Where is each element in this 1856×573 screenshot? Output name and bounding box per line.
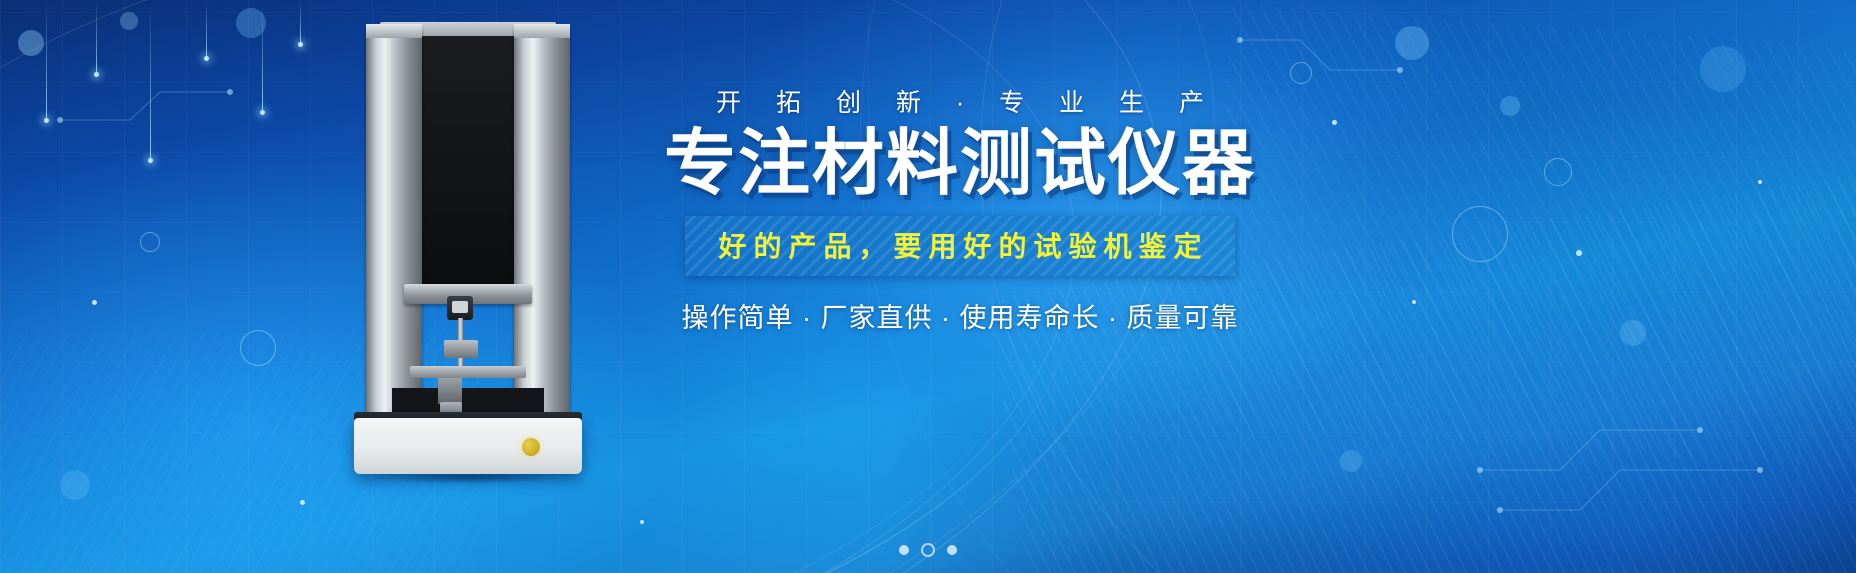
bokeh-circle bbox=[120, 12, 138, 30]
machine-plate-stem bbox=[438, 378, 462, 404]
machine-left-column-cap bbox=[366, 24, 422, 38]
ring-circle bbox=[1290, 62, 1312, 84]
banner-features-line: 操作简单 · 厂家直供 · 使用寿命长 · 质量可靠 bbox=[600, 296, 1320, 335]
light-drip-dot-icon bbox=[260, 110, 265, 115]
machine-left-column bbox=[366, 30, 422, 422]
carousel-dot-1[interactable] bbox=[899, 545, 909, 555]
ring-circle bbox=[1544, 158, 1572, 186]
bokeh-circle bbox=[1395, 26, 1429, 60]
ring-circle bbox=[1452, 206, 1508, 262]
machine-compression-plate bbox=[410, 366, 526, 378]
bokeh-circle bbox=[1700, 46, 1746, 92]
light-drip-dot-icon bbox=[148, 158, 153, 163]
spark-dot bbox=[1758, 180, 1762, 184]
bokeh-circle bbox=[236, 8, 266, 38]
banner-headline: 专注材料测试仪器 bbox=[600, 126, 1320, 202]
carousel-indicator[interactable] bbox=[0, 545, 1856, 555]
light-drip-icon bbox=[300, 0, 301, 44]
machine-right-column-cap bbox=[514, 24, 570, 38]
bokeh-circle bbox=[1620, 320, 1646, 346]
light-drip-dot-icon bbox=[204, 56, 209, 61]
spark-dot bbox=[640, 520, 644, 524]
light-drip-icon bbox=[150, 0, 151, 160]
banner-tagline: 开 拓 创 新 · 专 业 生 产 bbox=[600, 88, 1320, 118]
light-drip-icon bbox=[206, 0, 207, 58]
hero-banner: 开 拓 创 新 · 专 业 生 产 专注材料测试仪器 好的产品，要用好的试验机鉴… bbox=[0, 0, 1856, 573]
banner-highlight-badge: 好的产品，要用好的试验机鉴定 bbox=[685, 216, 1234, 276]
spark-dot bbox=[1412, 300, 1416, 304]
light-drip-icon bbox=[262, 0, 263, 112]
light-drip-dot-icon bbox=[44, 118, 49, 123]
machine-extensometer-gauge bbox=[447, 296, 473, 320]
universal-testing-machine-image bbox=[352, 22, 584, 462]
machine-right-column bbox=[514, 30, 570, 422]
bokeh-circle bbox=[1340, 450, 1362, 472]
machine-inner-cavity bbox=[422, 36, 514, 286]
bokeh-circle bbox=[1500, 96, 1520, 116]
machine-power-indicator-icon bbox=[522, 438, 540, 456]
machine-upper-grip bbox=[444, 340, 478, 358]
ring-circle bbox=[140, 232, 160, 252]
spark-dot bbox=[1576, 250, 1582, 256]
light-drip-icon bbox=[96, 0, 97, 74]
light-drip-icon bbox=[46, 0, 47, 120]
bokeh-circle bbox=[18, 30, 44, 56]
spark-dot bbox=[300, 500, 305, 505]
banner-copy: 开 拓 创 新 · 专 业 生 产 专注材料测试仪器 好的产品，要用好的试验机鉴… bbox=[600, 88, 1320, 362]
bokeh-circle bbox=[60, 470, 90, 500]
ring-circle bbox=[240, 330, 276, 366]
carousel-dot-3[interactable] bbox=[947, 545, 957, 555]
light-drip-dot-icon bbox=[298, 42, 303, 47]
light-drip-dot-icon bbox=[94, 72, 99, 77]
carousel-dot-2[interactable] bbox=[923, 545, 933, 555]
spark-dot bbox=[92, 300, 97, 305]
machine-base-cabinet bbox=[354, 418, 582, 474]
spark-dot bbox=[1332, 120, 1337, 125]
